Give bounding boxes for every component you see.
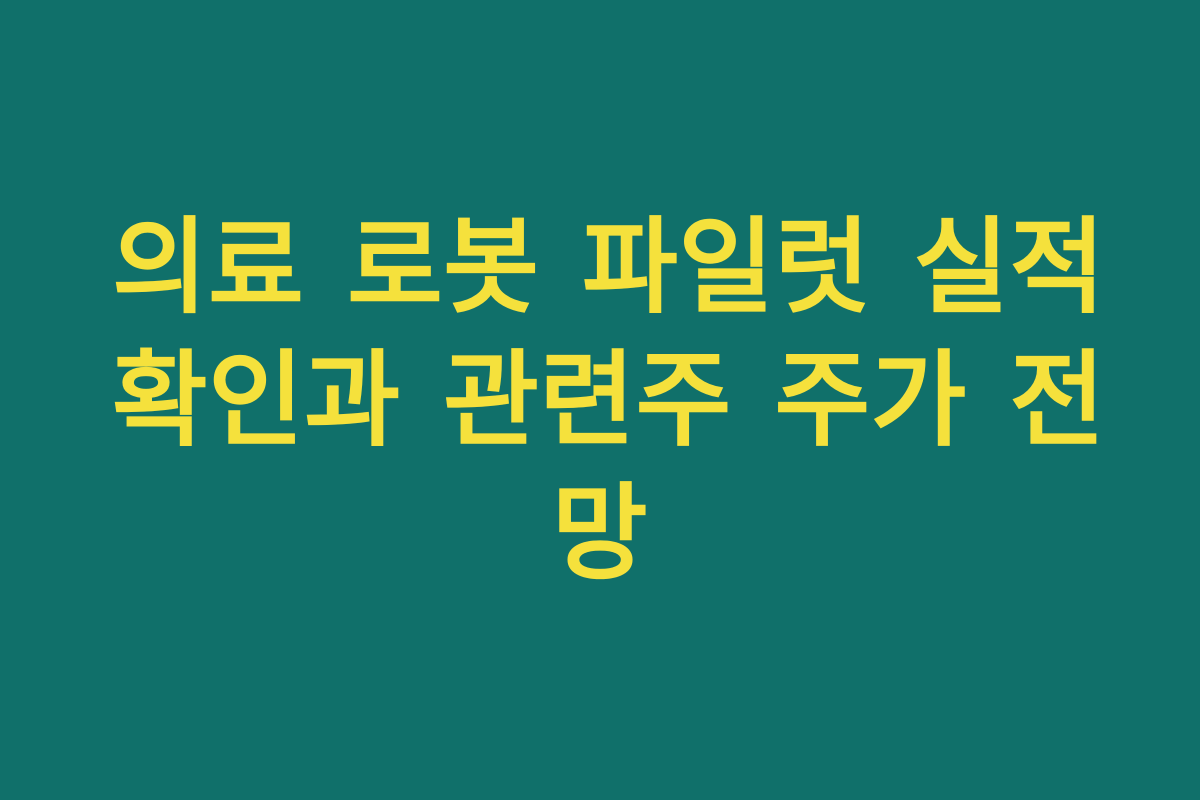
page-title-line-2: 확인과 관련주 주가 전 xyxy=(112,334,1088,467)
page-title-line-3: 망 xyxy=(112,467,1088,600)
page-title-line-1: 의료 로봇 파일럿 실적 xyxy=(112,201,1088,334)
title-banner: 의료 로봇 파일럿 실적 확인과 관련주 주가 전 망 xyxy=(0,0,1200,800)
page-title: 의료 로봇 파일럿 실적 확인과 관련주 주가 전 망 xyxy=(0,201,1200,600)
